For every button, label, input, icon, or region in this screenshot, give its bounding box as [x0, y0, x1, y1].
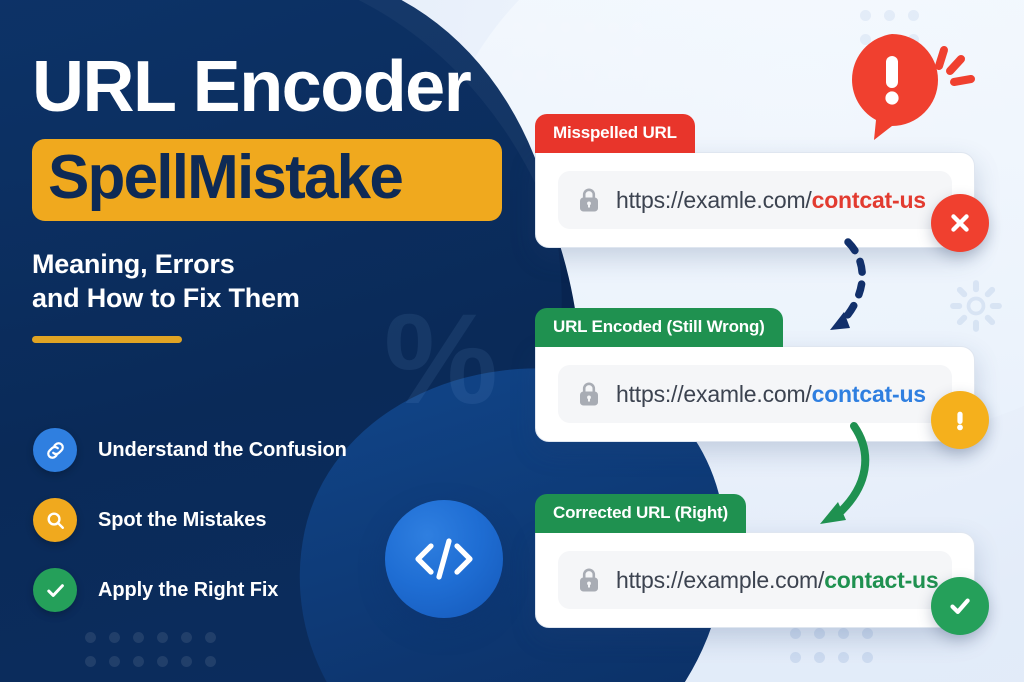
- lock-icon: [578, 381, 600, 407]
- url-base: https://examle.com/: [616, 187, 812, 213]
- accent-rule: [32, 336, 182, 343]
- feature-bullet-list: Understand the Confusion Spot the Mistak…: [33, 428, 347, 638]
- url-input-field[interactable]: https://examle.com/contcat-us: [558, 365, 952, 423]
- list-item: Understand the Confusion: [33, 428, 347, 472]
- url-path: contact-us: [824, 567, 938, 593]
- lock-icon: [578, 187, 600, 213]
- url-path: contcat-us: [812, 381, 926, 407]
- card-tab-label: Misspelled URL: [535, 114, 695, 153]
- hero-subtitle-line-2: and How to Fix Them: [32, 281, 502, 316]
- solid-arrow-card2-to-card3: [798, 424, 910, 542]
- url-base: https://examle.com/: [616, 381, 812, 407]
- code-brackets-icon: [385, 500, 503, 618]
- url-text: https://examle.com/contcat-us: [616, 187, 926, 214]
- hero-subtitle-line-1: Meaning, Errors: [32, 247, 502, 282]
- url-text: https://example.com/contact-us: [616, 567, 939, 594]
- url-path: contcat-us: [812, 187, 926, 213]
- link-icon: [33, 428, 77, 472]
- check-icon: [33, 568, 77, 612]
- check-mark-icon: [931, 577, 989, 635]
- title-highlight-badge: SpellMistake: [32, 139, 502, 221]
- list-item: Apply the Right Fix: [33, 568, 347, 612]
- card-body: https://examle.com/contcat-us: [535, 152, 975, 248]
- hero-subtitle: Meaning, Errors and How to Fix Them: [32, 247, 502, 316]
- card-misspelled-url[interactable]: Misspelled URL https://examle.com/contca…: [535, 114, 975, 248]
- page-title: URL Encoder: [32, 52, 502, 123]
- list-item-label: Understand the Confusion: [98, 439, 347, 462]
- url-input-field[interactable]: https://examle.com/contcat-us: [558, 171, 952, 229]
- title-highlight-text: SpellMistake: [48, 147, 486, 209]
- dashed-arrow-card1-to-card2: [800, 238, 910, 348]
- x-mark-icon: [931, 194, 989, 252]
- card-tab-label: Corrected URL (Right): [535, 494, 746, 533]
- list-item: Spot the Mistakes: [33, 498, 347, 542]
- url-input-field[interactable]: https://example.com/contact-us: [558, 551, 952, 609]
- url-text: https://examle.com/contcat-us: [616, 381, 926, 408]
- card-tab-label: URL Encoded (Still Wrong): [535, 308, 783, 347]
- dot-grid-bottom-right: [790, 628, 873, 663]
- list-item-label: Apply the Right Fix: [98, 579, 278, 602]
- card-body: https://example.com/contact-us: [535, 532, 975, 628]
- url-base: https://example.com/: [616, 567, 824, 593]
- dot-grid-top-left: [512, 22, 643, 81]
- search-icon: [33, 498, 77, 542]
- lock-icon: [578, 567, 600, 593]
- list-item-label: Spot the Mistakes: [98, 509, 266, 532]
- hero-headline: URL Encoder SpellMistake Meaning, Errors…: [32, 52, 502, 343]
- exclamation-mark-icon: [931, 391, 989, 449]
- infographic-canvas: % URL Encoder SpellMistake Meaning, Erro…: [0, 0, 1024, 682]
